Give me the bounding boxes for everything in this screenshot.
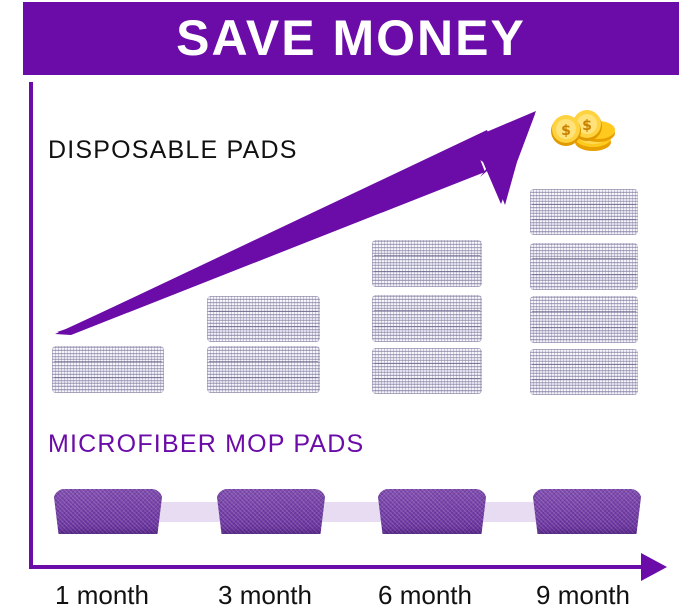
disposable-pad xyxy=(530,296,638,343)
disposable-pad xyxy=(207,296,320,342)
y-axis-line xyxy=(29,82,33,569)
x-tick-label-1-month: 1 month xyxy=(27,580,177,611)
header-banner: SAVE MONEY xyxy=(23,2,679,75)
save-money-infographic: SAVE MONEY DISPOSABLE PADS MICROFIBER MO… xyxy=(0,0,679,613)
x-tick-label-3-month: 3 month xyxy=(190,580,340,611)
micro-pad-6-month xyxy=(377,489,487,534)
micro-pad-3-month xyxy=(216,489,326,534)
micro-pad-1-month xyxy=(53,489,163,534)
disposable-pad xyxy=(52,346,164,393)
svg-text:$: $ xyxy=(582,118,592,134)
svg-text:$: $ xyxy=(561,123,571,139)
x-tick-label-6-month: 6 month xyxy=(350,580,500,611)
micro-pad-9-month xyxy=(532,489,642,534)
disposable-pad xyxy=(530,349,638,395)
page-title: SAVE MONEY xyxy=(176,13,526,63)
x-tick-label-9-month: 9 month xyxy=(508,580,658,611)
x-axis-line xyxy=(29,565,645,569)
gold-coins-icon: $ $ xyxy=(546,104,618,160)
disposable-pad xyxy=(372,295,482,342)
disposable-pads-label: DISPOSABLE PADS xyxy=(48,136,298,165)
disposable-pad xyxy=(530,243,638,290)
disposable-pad xyxy=(207,346,320,393)
disposable-pad xyxy=(530,189,638,235)
microfiber-mop-pads-label: MICROFIBER MOP PADS xyxy=(48,430,364,459)
disposable-pad xyxy=(372,348,482,394)
x-axis-arrowhead-icon xyxy=(641,553,667,581)
disposable-pad xyxy=(372,240,482,287)
